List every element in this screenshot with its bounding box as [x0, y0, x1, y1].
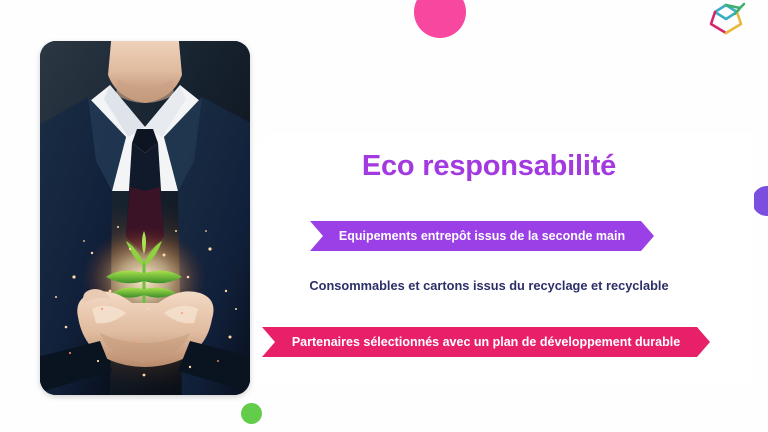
page-title: Eco responsabilité	[254, 150, 724, 183]
purple-circle-decoration	[752, 186, 768, 216]
bullet-ribbon-3: Partenaires sélectionnés avec un plan de…	[262, 327, 710, 357]
green-circle-decoration	[241, 403, 262, 424]
pink-circle-decoration	[414, 0, 466, 38]
bullet-label-1: Equipements entrepôt issus de la seconde…	[339, 229, 625, 243]
cube-logo-icon	[704, 2, 748, 38]
bullet-ribbon-1: Equipements entrepôt issus de la seconde…	[310, 221, 654, 251]
bullet-label-2: Consommables et cartons issus du recycla…	[309, 278, 668, 293]
slide-canvas: Eco responsabilité Equipements entrepôt …	[0, 0, 768, 432]
hero-photo	[40, 41, 250, 395]
bullet-label-3: Partenaires sélectionnés avec un plan de…	[292, 335, 680, 349]
bullet-plain-2: Consommables et cartons issus du recycla…	[254, 278, 724, 293]
